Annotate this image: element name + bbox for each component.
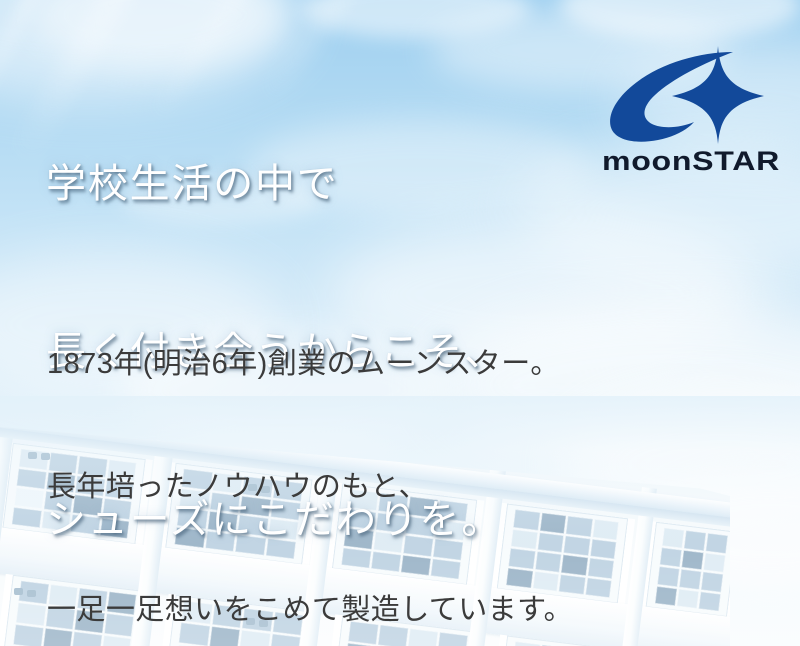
moonstar-wordmark-text: moonSTAR [602, 146, 780, 176]
headline-line-1: 学校生活の中で [46, 156, 506, 212]
body-line-3: 一足一足想いをこめて製造しています。 [47, 590, 573, 631]
body-copy: 1873年(明治6年)創業のムーンスター。 長年培ったノウハウのもと、 一足一足… [47, 262, 573, 646]
moonstar-wordmark: moonSTAR [602, 146, 782, 176]
body-line-1: 1873年(明治6年)創業のムーンスター。 [47, 344, 573, 385]
crescent-moon-and-star-icon [604, 46, 764, 144]
moonstar-hero-banner: 学校生活の中で 長く付き合うからこそ、 シューズにこだわりを。 1873年(明治… [0, 0, 800, 646]
body-line-2: 長年培ったノウハウのもと、 [47, 467, 573, 508]
moonstar-logo: moonSTAR [604, 46, 779, 179]
